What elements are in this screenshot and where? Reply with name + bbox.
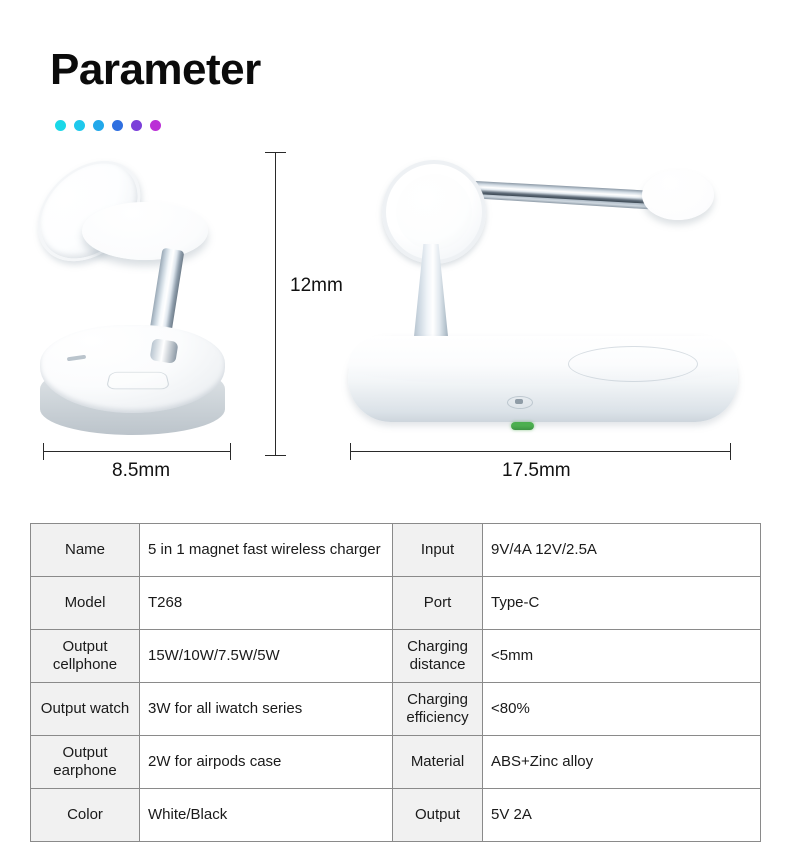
spec-value: <80% [483, 683, 761, 736]
table-row: Output watch 3W for all iwatch series Ch… [31, 683, 761, 736]
table-row: Model T268 Port Type-C [31, 577, 761, 630]
spec-key: Charging distance [393, 630, 483, 683]
page-title: Parameter [50, 48, 261, 92]
spec-value: 5V 2A [483, 789, 761, 842]
gradient-dot-icon [93, 120, 104, 131]
spec-key: Port [393, 577, 483, 630]
right-width-tick-end [730, 443, 731, 460]
watch-charging-pad [642, 170, 714, 220]
height-dimension-label: 12mm [290, 275, 343, 297]
spec-key: Output watch [31, 683, 140, 736]
product-illustration-area: 12mm 8.5mm 17.5mm [0, 140, 790, 490]
wireless-coil-ring [568, 346, 698, 382]
airpods-pad-area [106, 372, 170, 389]
base-top-surface [40, 325, 225, 413]
spec-key: Model [31, 577, 140, 630]
spec-value: White/Black [140, 789, 393, 842]
spec-key: Color [31, 789, 140, 842]
left-width-tick-start [43, 443, 44, 460]
gradient-dot-icon [74, 120, 85, 131]
spec-value: 5 in 1 magnet fast wireless charger [140, 524, 393, 577]
spec-value: T268 [140, 577, 393, 630]
height-dimension-tick-top [265, 152, 286, 153]
spec-value: 3W for all iwatch series [140, 683, 393, 736]
spec-value: ABS+Zinc alloy [483, 736, 761, 789]
spec-value: 2W for airpods case [140, 736, 393, 789]
spec-key: Output earphone [31, 736, 140, 789]
spec-key: Output cellphone [31, 630, 140, 683]
spec-key: Material [393, 736, 483, 789]
spec-value: 15W/10W/7.5W/5W [140, 630, 393, 683]
left-width-dimension-label: 8.5mm [112, 460, 170, 482]
gradient-dot-icon [131, 120, 142, 131]
spec-key: Charging efficiency [393, 683, 483, 736]
height-dimension-line [275, 152, 276, 455]
spec-value: <5mm [483, 630, 761, 683]
gradient-dot-icon [150, 120, 161, 131]
left-width-tick-end [230, 443, 231, 460]
spec-key: Output [393, 789, 483, 842]
product-image-front-view [340, 140, 750, 450]
right-width-dimension-line [350, 451, 730, 452]
right-width-dimension-label: 17.5mm [502, 460, 571, 482]
gradient-dot-icon [112, 120, 123, 131]
magsafe-pad-inner [396, 174, 472, 250]
green-status-led [511, 422, 534, 430]
height-dimension-tick-bottom [265, 455, 286, 456]
decorative-dot-row [55, 120, 161, 131]
spec-value: 9V/4A 12V/2.5A [483, 524, 761, 577]
stem-foot [149, 338, 178, 364]
spec-key: Name [31, 524, 140, 577]
spec-key: Input [393, 524, 483, 577]
table-row: Output earphone 2W for airpods case Mate… [31, 736, 761, 789]
spec-value: Type-C [483, 577, 761, 630]
table-row: Color White/Black Output 5V 2A [31, 789, 761, 842]
specification-table: Name 5 in 1 magnet fast wireless charger… [30, 523, 761, 842]
gradient-dot-icon [55, 120, 66, 131]
product-image-angled-view [30, 140, 250, 450]
table-row: Name 5 in 1 magnet fast wireless charger… [31, 524, 761, 577]
brand-emblem-core [515, 399, 523, 404]
left-width-dimension-line [43, 451, 230, 452]
right-width-tick-start [350, 443, 351, 460]
lower-magnetic-pad [82, 202, 208, 260]
table-row: Output cellphone 15W/10W/7.5W/5W Chargin… [31, 630, 761, 683]
